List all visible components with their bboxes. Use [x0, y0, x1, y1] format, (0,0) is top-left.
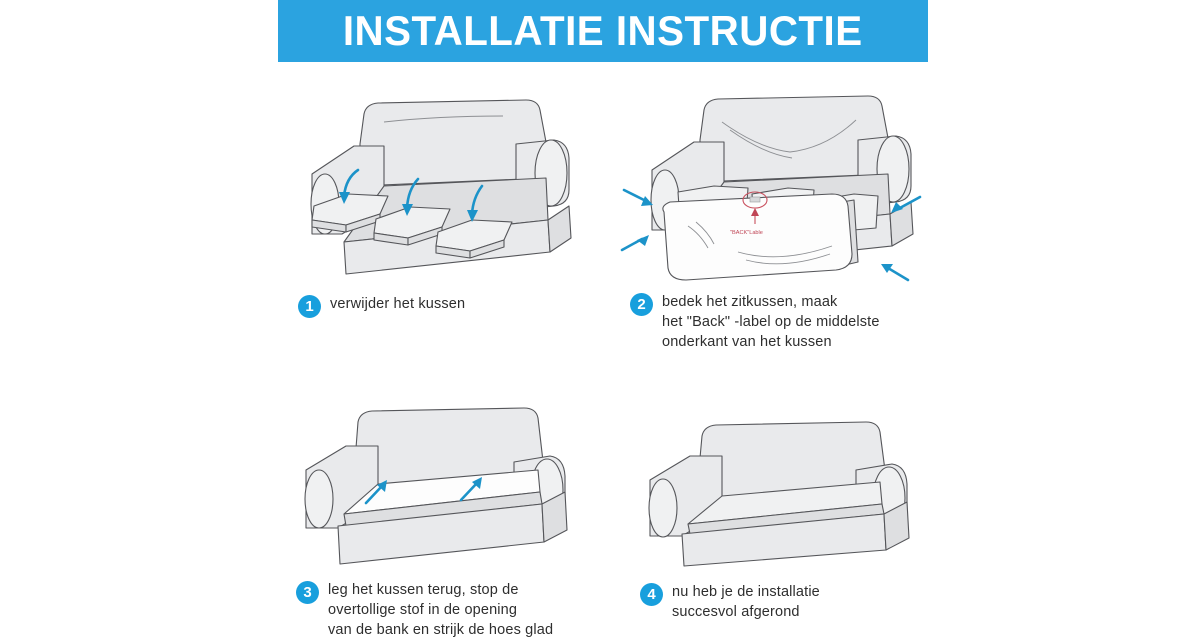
tuck-arrow-right-bottom [881, 264, 908, 280]
tuck-arrow-left-top [624, 190, 653, 206]
sofa-with-removed-cushions-illustration [288, 82, 588, 282]
step-2: "BACK"Lable [618, 82, 938, 362]
sofa-tuck-fabric-illustration [288, 400, 588, 568]
step-2-badge: 2 [630, 293, 653, 316]
step-4-line-1: nu heb je de installatie [672, 582, 820, 602]
tuck-arrow-left-bottom [622, 235, 649, 250]
step-4-line-2: succesvol afgerond [672, 602, 820, 622]
step-3-caption: 3 leg het kussen terug, stop de overtoll… [296, 580, 598, 640]
step-3-line-1: leg het kussen terug, stop de [328, 580, 553, 600]
step-3-line-2: overtollige stof in de opening [328, 600, 553, 620]
step-3-figure [288, 400, 598, 568]
step-3-line-3: van de bank en strijk de hoes glad [328, 620, 553, 640]
step-2-line-1: bedek het zitkussen, maak [662, 292, 880, 312]
step-3: 3 leg het kussen terug, stop de overtoll… [288, 400, 598, 630]
step-4-figure [628, 400, 938, 568]
step-3-badge: 3 [296, 581, 319, 604]
step-1-figure [288, 82, 588, 282]
sofa-with-cushion-cover-illustration: "BACK"Lable [618, 82, 938, 287]
header-banner: INSTALLATIE INSTRUCTIE [278, 0, 928, 62]
page-title: INSTALLATIE INSTRUCTIE [343, 10, 863, 52]
step-4: 4 nu heb je de installatie succesvol afg… [628, 400, 938, 630]
instruction-sheet: INSTALLATIE INSTRUCTIE [0, 0, 1200, 630]
step-2-text: bedek het zitkussen, maak het "Back" -la… [662, 292, 880, 352]
step-1-caption: 1 verwijder het kussen [298, 294, 588, 318]
step-4-badge: 4 [640, 583, 663, 606]
step-3-text: leg het kussen terug, stop de overtollig… [328, 580, 553, 640]
step-1-badge: 1 [298, 295, 321, 318]
step-2-line-3: onderkant van het kussen [662, 332, 880, 352]
step-4-text: nu heb je de installatie succesvol afger… [672, 582, 820, 622]
sofa-finished-illustration [628, 400, 928, 568]
step-1-line-1: verwijder het kussen [330, 294, 465, 314]
step-1: 1 verwijder het kussen [288, 82, 588, 342]
step-2-caption: 2 bedek het zitkussen, maak het "Back" -… [630, 292, 938, 352]
back-label-text: "BACK"Lable [730, 230, 763, 236]
step-1-text: verwijder het kussen [330, 294, 465, 314]
step-2-line-2: het "Back" -label op de middelste [662, 312, 880, 332]
step-2-figure: "BACK"Lable [618, 82, 938, 282]
step-4-caption: 4 nu heb je de installatie succesvol afg… [640, 582, 938, 622]
